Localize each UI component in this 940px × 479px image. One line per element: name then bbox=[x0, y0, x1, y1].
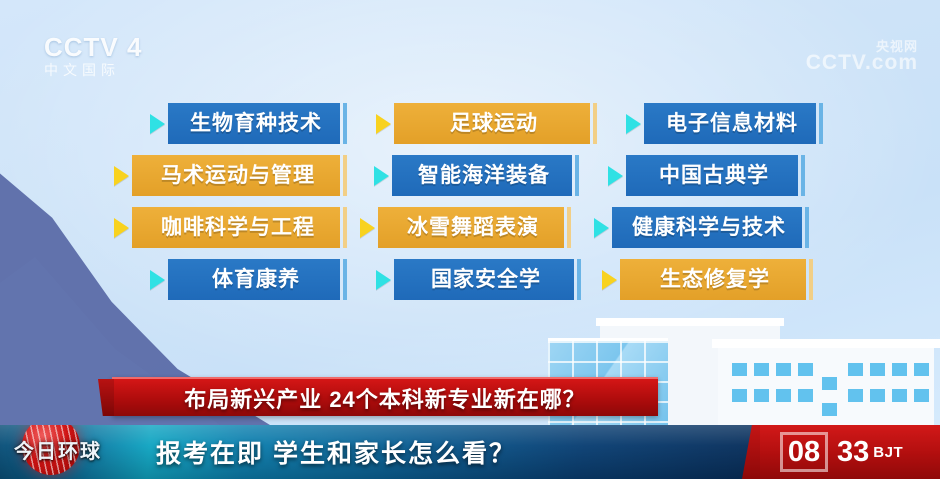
play-arrow-icon bbox=[602, 270, 617, 290]
play-arrow-icon bbox=[360, 218, 375, 238]
major-chip-group[interactable]: 体育康养 bbox=[150, 259, 340, 300]
major-chip-label: 生物育种技术 bbox=[181, 113, 322, 134]
building-secondary-roof bbox=[712, 339, 940, 348]
play-arrow-icon bbox=[376, 270, 391, 290]
clock-timezone: BJT bbox=[873, 444, 903, 461]
building-window bbox=[754, 389, 769, 402]
clock-hours: 08 bbox=[788, 438, 820, 467]
major-chip-group[interactable]: 冰雪舞蹈表演 bbox=[360, 207, 564, 248]
building-window bbox=[822, 403, 837, 416]
play-arrow-icon bbox=[626, 114, 641, 134]
play-arrow-icon bbox=[150, 114, 165, 134]
major-chip-label: 电子信息材料 bbox=[657, 113, 798, 134]
major-chip[interactable]: 生物育种技术 bbox=[168, 103, 340, 144]
play-arrow-icon bbox=[114, 166, 129, 186]
lower-third-bar: 今日环球 报考在即 学生和家长怎么看？ 08 33 BJT bbox=[0, 425, 940, 479]
building-window bbox=[914, 363, 929, 376]
major-chip-group[interactable]: 国家安全学 bbox=[376, 259, 574, 300]
major-chip[interactable]: 电子信息材料 bbox=[644, 103, 816, 144]
building-window bbox=[732, 363, 747, 376]
major-chip-label: 健康科学与技术 bbox=[623, 217, 786, 238]
building-window bbox=[892, 389, 907, 402]
program-name: 今日环球 bbox=[14, 435, 154, 464]
building-window bbox=[822, 377, 837, 390]
building-window bbox=[754, 363, 769, 376]
building-window bbox=[870, 389, 885, 402]
major-chip-group[interactable]: 中国古典学 bbox=[608, 155, 798, 196]
majors-row: 咖啡科学与工程 冰雪舞蹈表演 健康科学与技术 bbox=[108, 207, 822, 248]
clock-minutes: 33 bbox=[837, 438, 869, 467]
major-chip-label: 足球运动 bbox=[441, 113, 538, 134]
play-arrow-icon bbox=[150, 270, 165, 290]
building-window bbox=[870, 363, 885, 376]
major-chip[interactable]: 智能海洋装备 bbox=[392, 155, 572, 196]
major-chip-group[interactable]: 电子信息材料 bbox=[626, 103, 816, 144]
major-chip[interactable]: 健康科学与技术 bbox=[612, 207, 802, 248]
program-logo: 今日环球 bbox=[4, 425, 156, 477]
clock-hours-box: 08 bbox=[780, 432, 828, 472]
building-window bbox=[798, 363, 813, 376]
major-chip-label: 智能海洋装备 bbox=[409, 165, 550, 186]
headline-banner: 布局新兴产业 24个本科新专业新在哪？ bbox=[112, 377, 658, 416]
subheadline-text: 报考在即 学生和家长怎么看？ bbox=[156, 425, 516, 479]
play-arrow-icon bbox=[594, 218, 609, 238]
major-chip-group[interactable]: 生物育种技术 bbox=[150, 103, 340, 144]
building-secondary bbox=[718, 347, 934, 425]
building-window bbox=[892, 363, 907, 376]
building-window bbox=[776, 389, 791, 402]
major-chip[interactable]: 中国古典学 bbox=[626, 155, 798, 196]
major-chip-label: 生态修复学 bbox=[651, 269, 770, 290]
building-window bbox=[848, 363, 863, 376]
new-majors-grid: 生物育种技术 足球运动 电子信息材料 马术运动与管理 bbox=[108, 103, 822, 311]
building-window bbox=[914, 389, 929, 402]
play-arrow-icon bbox=[608, 166, 623, 186]
major-chip[interactable]: 咖啡科学与工程 bbox=[132, 207, 340, 248]
major-chip-label: 国家安全学 bbox=[422, 269, 541, 290]
clock-widget: 08 33 BJT bbox=[758, 425, 940, 479]
broadcast-screen: CCTV 4 中文国际 央视网 CCTV.com 生物育种技术 足球运动 bbox=[0, 0, 940, 479]
building-window bbox=[776, 363, 791, 376]
building-window bbox=[848, 389, 863, 402]
majors-row: 马术运动与管理 智能海洋装备 中国古典学 bbox=[108, 155, 822, 196]
major-chip-group[interactable]: 智能海洋装备 bbox=[374, 155, 572, 196]
major-chip[interactable]: 足球运动 bbox=[394, 103, 590, 144]
building-window bbox=[732, 389, 747, 402]
major-chip[interactable]: 体育康养 bbox=[168, 259, 340, 300]
major-chip-label: 马术运动与管理 bbox=[152, 165, 315, 186]
headline-text: 布局新兴产业 24个本科新专业新在哪？ bbox=[184, 382, 586, 414]
play-arrow-icon bbox=[374, 166, 389, 186]
building-window bbox=[798, 389, 813, 402]
major-chip-label: 中国古典学 bbox=[650, 165, 769, 186]
major-chip-label: 咖啡科学与工程 bbox=[152, 217, 315, 238]
play-arrow-icon bbox=[376, 114, 391, 134]
major-chip-label: 冰雪舞蹈表演 bbox=[398, 217, 539, 238]
major-chip[interactable]: 马术运动与管理 bbox=[132, 155, 340, 196]
major-chip-group[interactable]: 咖啡科学与工程 bbox=[114, 207, 340, 248]
major-chip[interactable]: 生态修复学 bbox=[620, 259, 806, 300]
major-chip-group[interactable]: 健康科学与技术 bbox=[594, 207, 802, 248]
major-chip[interactable]: 冰雪舞蹈表演 bbox=[378, 207, 564, 248]
major-chip-label: 体育康养 bbox=[203, 269, 300, 290]
major-chip-group[interactable]: 生态修复学 bbox=[602, 259, 806, 300]
major-chip-group[interactable]: 马术运动与管理 bbox=[114, 155, 340, 196]
major-chip[interactable]: 国家安全学 bbox=[394, 259, 574, 300]
play-arrow-icon bbox=[114, 218, 129, 238]
major-chip-group[interactable]: 足球运动 bbox=[376, 103, 590, 144]
building-main-roof bbox=[596, 318, 784, 326]
majors-row: 生物育种技术 足球运动 电子信息材料 bbox=[108, 103, 822, 144]
majors-row: 体育康养 国家安全学 生态修复学 bbox=[108, 259, 822, 300]
